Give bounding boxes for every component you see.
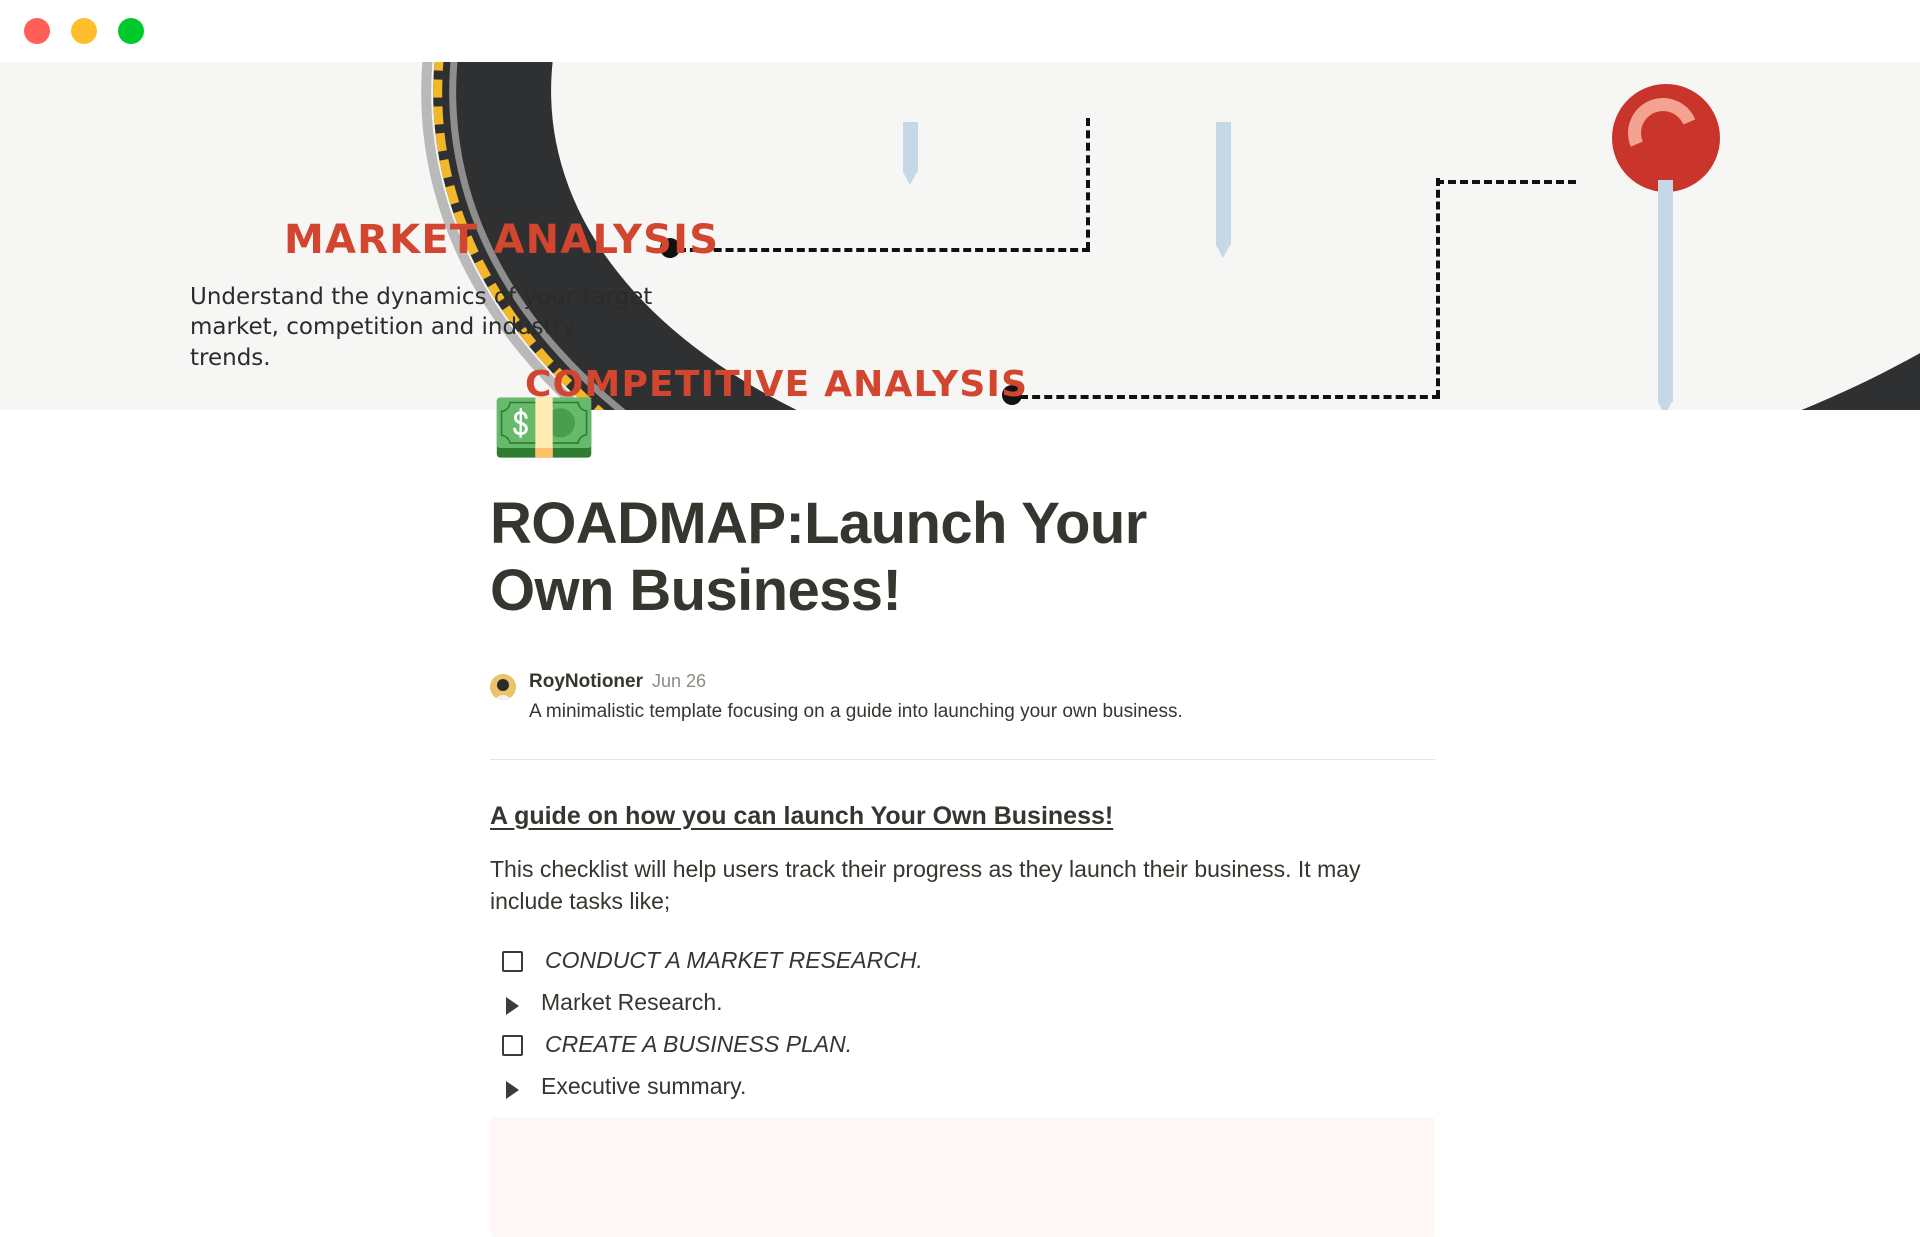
list-item[interactable]: CONDUCT A MARKET RESEARCH.: [490, 940, 1435, 982]
checklist: CONDUCT A MARKET RESEARCH. Market Resear…: [490, 940, 1435, 1108]
content-divider: [490, 759, 1435, 760]
chevron-right-icon[interactable]: [506, 1081, 519, 1099]
callout-block[interactable]: [490, 1117, 1435, 1237]
intro-paragraph: This checklist will help users track the…: [490, 853, 1395, 918]
minimize-window-button[interactable]: [71, 18, 97, 44]
checkbox-icon[interactable]: [502, 1035, 523, 1056]
list-item[interactable]: Market Research.: [490, 982, 1435, 1024]
list-item[interactable]: Executive summary.: [490, 1066, 1435, 1108]
page-tagline: A minimalistic template focusing on a gu…: [529, 701, 1183, 723]
cover-image[interactable]: MARKET ANALYSIS Understand the dynamics …: [0, 62, 1920, 410]
map-pin-head-icon: [1612, 84, 1720, 192]
connector-riser-market: [1086, 118, 1090, 250]
cover-label-market-analysis: MARKET ANALYSIS: [284, 217, 719, 263]
cover-subtitle-market-analysis: Understand the dynamics of your target m…: [190, 282, 660, 373]
publish-date: Jun 26: [652, 671, 706, 692]
connector-line-competitive: [1020, 395, 1440, 399]
chevron-right-icon[interactable]: [506, 997, 519, 1015]
byline-text-column: RoyNotioner Jun 26 A minimalistic templa…: [529, 671, 1183, 723]
connector-top-competitive: [1436, 180, 1576, 184]
page-title[interactable]: ROADMAP:Launch Your Own Business!: [490, 490, 1210, 625]
avatar[interactable]: [490, 674, 516, 700]
maximize-window-button[interactable]: [118, 18, 144, 44]
window-title-bar: [0, 0, 1920, 62]
checkbox-icon[interactable]: [502, 951, 523, 972]
traffic-light-group: [24, 18, 144, 44]
list-item-label: Executive summary.: [541, 1072, 746, 1102]
byline: RoyNotioner Jun 26 A minimalistic templa…: [490, 671, 1435, 723]
list-item-label: CONDUCT A MARKET RESEARCH.: [545, 946, 923, 976]
author-name[interactable]: RoyNotioner: [529, 671, 643, 693]
section-heading[interactable]: A guide on how you can launch Your Own B…: [490, 802, 1435, 831]
document-body: ROADMAP:Launch Your Own Business! RoyNot…: [490, 490, 1435, 1108]
cover-label-competitive-analysis: COMPETITIVE ANALYSIS: [525, 364, 1028, 405]
connector-line-market: [678, 248, 1090, 252]
byline-meta-row: RoyNotioner Jun 26: [529, 671, 1183, 693]
close-window-button[interactable]: [24, 18, 50, 44]
page-icon-money[interactable]: 💵: [492, 376, 596, 480]
list-item-label: Market Research.: [541, 988, 723, 1018]
list-item-label: CREATE A BUSINESS PLAN.: [545, 1030, 852, 1060]
connector-riser-competitive: [1436, 178, 1440, 398]
list-item[interactable]: CREATE A BUSINESS PLAN.: [490, 1024, 1435, 1066]
